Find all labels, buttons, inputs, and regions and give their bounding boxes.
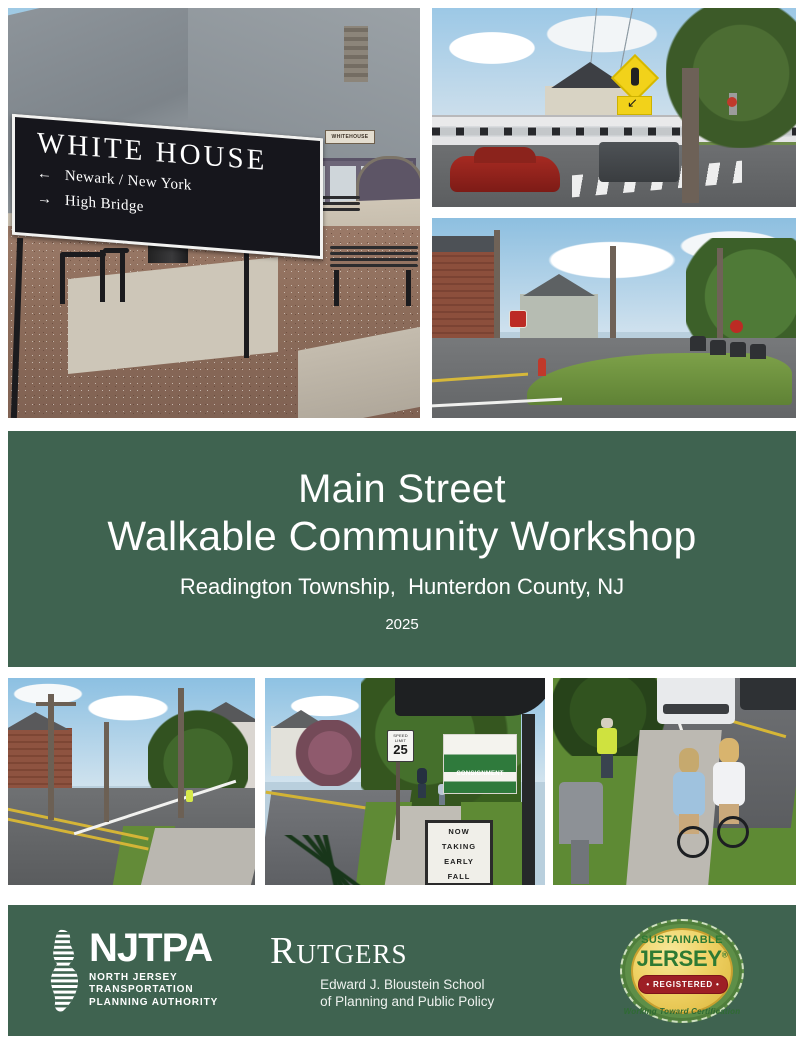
rutgers-wordmark: Rutgers xyxy=(270,932,494,970)
njtpa-logo: NJTPA NORTH JERSEY TRANSPORTATION PLANNI… xyxy=(46,929,218,1013)
mailbox xyxy=(710,340,726,355)
cover-subtitle: Readington Township, Hunterdon County, N… xyxy=(180,574,624,600)
letterboard-line-2: TAKING xyxy=(428,840,490,853)
brick-rowhouse xyxy=(8,728,72,790)
direction-left-label: Newark / New York xyxy=(65,168,192,194)
white-pickup-truck xyxy=(657,678,735,724)
bike-rack-post xyxy=(100,250,105,302)
school-line-2: of Planning and Public Policy xyxy=(320,993,494,1010)
canopy-post xyxy=(522,714,535,885)
njtpa-name-line-1: NORTH JERSEY xyxy=(89,972,218,985)
arrow-left-icon: ← xyxy=(37,166,52,183)
bike-rack-post xyxy=(60,254,65,304)
arrow-right-icon: → xyxy=(37,191,52,208)
cyclist-head xyxy=(719,738,739,764)
letterboard-sign: NOW TAKING EARLY FALL xyxy=(425,820,493,885)
title-banner: Main Street Walkable Community Workshop … xyxy=(8,431,796,667)
speed-limit-sign: SPEED LIMIT 25 xyxy=(387,730,414,762)
photo-cyclists xyxy=(553,678,796,885)
purple-leaf-tree xyxy=(295,720,365,786)
direction-right-label: High Bridge xyxy=(65,193,144,215)
photo-sidewalk-walkers: SPEED LIMIT 25 CONSIGNMENT NOW TAKING EA… xyxy=(265,678,545,885)
mailbox xyxy=(690,336,706,351)
cyclist-head xyxy=(679,748,699,774)
letterboard-line-1: NOW xyxy=(428,825,490,838)
fire-hydrant-icon xyxy=(538,358,546,376)
utility-cabinet xyxy=(559,782,603,844)
sidewalk xyxy=(141,828,255,885)
station-wayfinding-sign: WHITE HOUSE ← Newark / New York → High B… xyxy=(12,114,323,259)
palm-frond-foreground xyxy=(265,835,407,885)
seal-line-1: SUSTAINABLE xyxy=(620,934,744,946)
cyclist-torso xyxy=(713,762,745,806)
seal-arc-text: Working Toward Certification xyxy=(620,1007,744,1016)
photo-rail-crossing xyxy=(432,8,796,207)
seal-registered-badge: • REGISTERED • xyxy=(638,975,728,994)
letterboard-line-4: FALL xyxy=(428,870,490,883)
consignment-business-sign: CONSIGNMENT xyxy=(443,734,517,794)
mailbox xyxy=(730,342,746,357)
station-placard: WHITEHOUSE xyxy=(325,130,375,144)
sponsor-logo-bar: NJTPA NORTH JERSEY TRANSPORTATION PLANNI… xyxy=(8,905,796,1036)
cover-title: Main Street Walkable Community Workshop xyxy=(107,466,696,560)
title-line-1: Main Street xyxy=(107,466,696,513)
speed-sign-post xyxy=(396,760,400,840)
utility-pole xyxy=(610,246,616,346)
trademark-symbol: ® xyxy=(722,950,728,959)
gray-house xyxy=(520,294,598,342)
bench-leg xyxy=(334,270,339,306)
rutgers-logo: Rutgers Edward J. Bloustein School of Pl… xyxy=(270,932,494,1010)
letterboard-line-3: EARLY xyxy=(428,855,490,868)
photo-train-station: WHITEHOUSE WHITE HOUSE ← Newark / New xyxy=(8,8,420,418)
cyclist-torso xyxy=(673,772,705,816)
stop-sign-distant-icon xyxy=(730,320,743,333)
sustainable-jersey-seal: SUSTAINABLE JERSEY® • REGISTERED • Worki… xyxy=(620,919,744,1023)
pickup-truck xyxy=(599,142,679,182)
pedestrian-in-safety-vest xyxy=(186,790,193,802)
bike-rack-bar xyxy=(60,252,106,257)
njtpa-name-line-3: PLANNING AUTHORITY xyxy=(89,997,218,1010)
new-jersey-state-outline-icon xyxy=(46,929,82,1013)
cyclist xyxy=(671,748,707,858)
speed-limit-value: 25 xyxy=(388,743,413,757)
utility-pole xyxy=(104,722,109,822)
cover-year: 2025 xyxy=(385,616,418,633)
bike-rack-bar xyxy=(103,248,129,253)
utility-crossarm xyxy=(36,702,76,706)
consignment-sign-text: CONSIGNMENT xyxy=(444,771,516,777)
utility-pole xyxy=(178,688,184,818)
title-line-2: Walkable Community Workshop xyxy=(107,513,696,560)
bicycle-wheel xyxy=(717,816,749,848)
seal-line-2: JERSEY® xyxy=(620,946,744,972)
seal-jersey-text: JERSEY xyxy=(637,946,722,971)
awning-canopy xyxy=(395,678,545,716)
njtpa-acronym: NJTPA xyxy=(89,929,218,967)
mailbox xyxy=(750,344,766,359)
njtpa-full-name: NORTH JERSEY TRANSPORTATION PLANNING AUT… xyxy=(89,972,218,1010)
chimney xyxy=(344,26,368,82)
bench-near xyxy=(330,246,418,270)
dark-vehicle xyxy=(740,678,796,710)
njtpa-text: NJTPA NORTH JERSEY TRANSPORTATION PLANNI… xyxy=(89,929,218,1010)
bike-rack-post xyxy=(120,248,125,302)
bench-leg xyxy=(406,270,411,306)
railroad-crossing-signal-icon xyxy=(729,93,737,115)
utility-pole xyxy=(717,248,723,344)
tree-trunk xyxy=(682,68,699,203)
bloustein-school-name: Edward J. Bloustein School of Planning a… xyxy=(320,976,494,1010)
cover-page: WHITEHOUSE WHITE HOUSE ← Newark / New xyxy=(0,0,804,1044)
crossing-arrow-plaque-icon xyxy=(617,96,652,115)
photo-residential-median xyxy=(432,218,796,418)
njtpa-name-line-2: TRANSPORTATION xyxy=(89,984,218,997)
school-line-1: Edward J. Bloustein School xyxy=(320,976,494,993)
utility-pole xyxy=(48,694,54,820)
pedestrian-in-safety-vest xyxy=(597,718,617,778)
direction-right-text: → High Bridge xyxy=(37,191,144,216)
adult-pedestrian xyxy=(415,768,429,806)
red-car xyxy=(450,156,560,192)
cyclist xyxy=(711,738,747,848)
brick-house xyxy=(432,250,496,346)
bicycle-wheel xyxy=(677,826,709,858)
photo-street-sidewalk xyxy=(8,678,255,885)
stop-sign-icon xyxy=(509,310,527,328)
